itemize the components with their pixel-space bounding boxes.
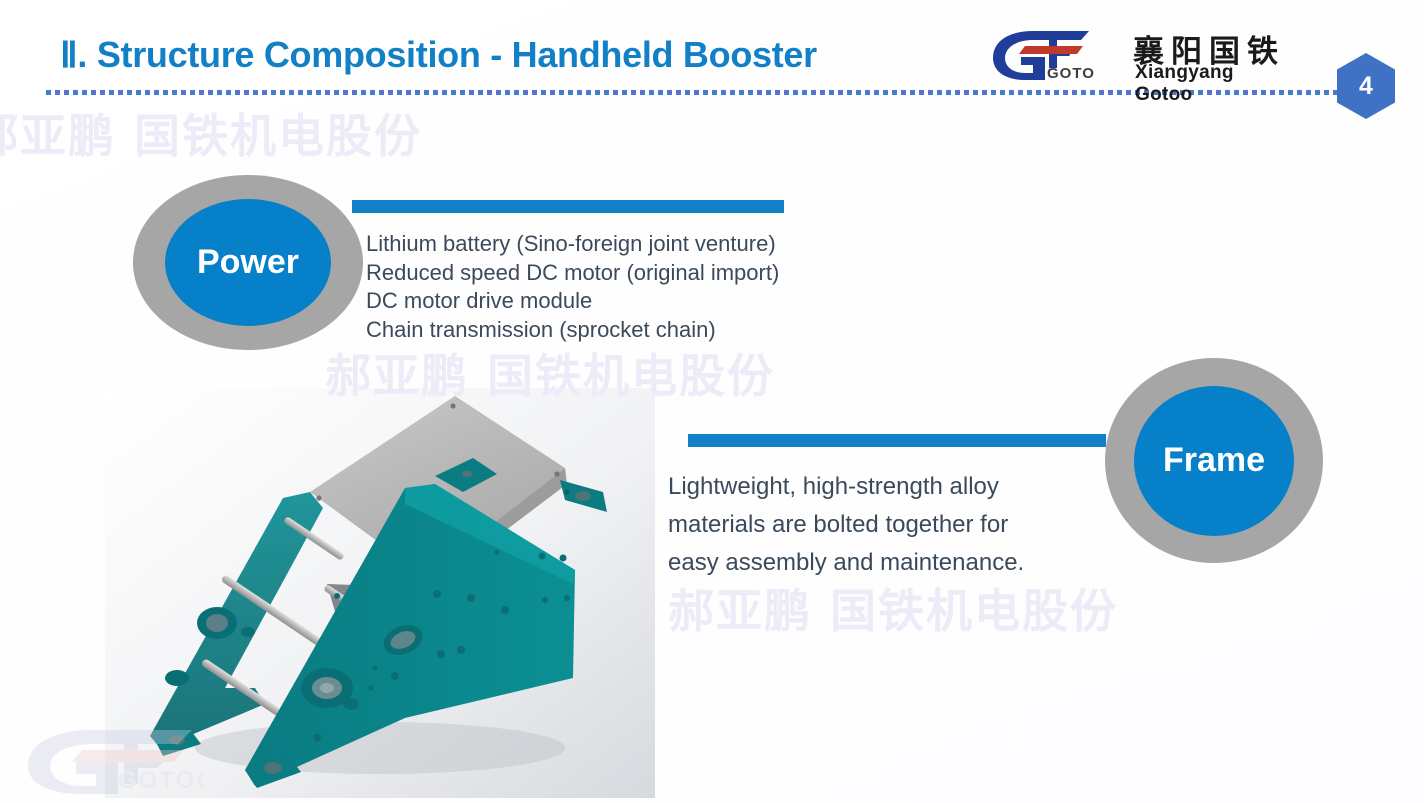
power-circle-badge: Power bbox=[133, 175, 363, 350]
footer-gotoo-logo-icon: GOTOO bbox=[14, 722, 204, 794]
svg-text:GOTOO: GOTOO bbox=[1047, 65, 1095, 80]
frame-label: Frame bbox=[1163, 441, 1265, 480]
frame-circle-badge: Frame bbox=[1105, 358, 1323, 563]
company-logo: GOTOO 襄阳国铁 Xiangyang Gotoo bbox=[985, 26, 1285, 84]
watermark-text: 郝亚鹏 国铁机电股份 bbox=[0, 100, 422, 166]
power-line-3: DC motor drive module bbox=[366, 287, 886, 316]
frame-line-1: Lightweight, high-strength alloy bbox=[668, 468, 1108, 506]
gotoo-logo-icon: GOTOO bbox=[985, 28, 1095, 80]
logo-english-name: Xiangyang Gotoo bbox=[1135, 62, 1285, 106]
slide-canvas: Ⅱ. Structure Composition - Handheld Boos… bbox=[0, 0, 1424, 803]
svg-text:GOTOO: GOTOO bbox=[118, 767, 204, 794]
page-number-badge: 4 bbox=[1337, 53, 1395, 119]
power-line-2: Reduced speed DC motor (original import) bbox=[366, 259, 886, 288]
power-label: Power bbox=[197, 243, 299, 282]
power-accent-bar bbox=[352, 200, 784, 213]
watermark-text: 郝亚鹏 国铁机电股份 bbox=[668, 575, 1118, 641]
page-title: Ⅱ. Structure Composition - Handheld Boos… bbox=[60, 34, 817, 76]
frame-accent-bar bbox=[688, 434, 1106, 447]
page-number-value: 4 bbox=[1359, 72, 1373, 101]
power-description: Lithium battery (Sino-foreign joint vent… bbox=[366, 230, 886, 344]
frame-description: Lightweight, high-strength alloy materia… bbox=[668, 468, 1108, 582]
power-circle-inner: Power bbox=[165, 199, 331, 326]
power-line-1: Lithium battery (Sino-foreign joint vent… bbox=[366, 230, 886, 259]
frame-line-2: materials are bolted together for bbox=[668, 506, 1108, 544]
frame-circle-inner: Frame bbox=[1134, 386, 1294, 536]
watermark-text: 郝亚鹏 国铁机电股份 bbox=[325, 340, 775, 406]
